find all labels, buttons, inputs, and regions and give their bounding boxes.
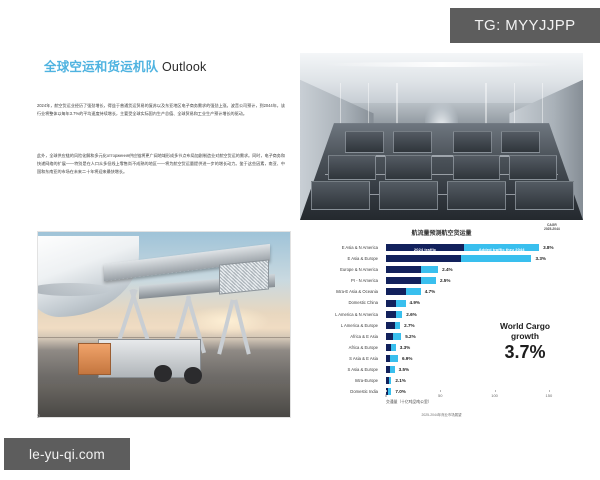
hold-cargo-crate [447, 181, 506, 210]
chart-cagr-value: 4.7% [425, 286, 435, 297]
chart-row-label: L America & N America [300, 309, 382, 320]
chart-row: E Asia & Europe3.3% [300, 253, 583, 264]
freighter-cargo-hold-photo [300, 53, 583, 220]
hold-cargo-crate [509, 155, 556, 180]
chart-row-label: Europe & N America [300, 264, 382, 275]
chart-row: Intra-E Asia & Oceania4.7% [300, 286, 583, 297]
chart-cagr-value: 7.0% [395, 386, 405, 397]
chart-cagr-value: 3.3% [535, 253, 545, 264]
chart-bar-segment-added [396, 300, 406, 307]
chart-bar-segment-2024 [386, 266, 421, 273]
chart-row-label: L America & Europe [300, 320, 382, 331]
chart-cagr-value: 4.9% [410, 297, 420, 308]
chart-row-label: Domestic China [300, 297, 382, 308]
chart-bar-segment-2024 [386, 322, 395, 329]
chart-row-label: S Asia & Europe [300, 364, 382, 375]
hold-cargo-crate [453, 155, 500, 180]
cargo-pallet [219, 259, 269, 294]
chart-row-label: E Asia & Europe [300, 253, 382, 264]
chart-row-label: E Asia & N America [300, 242, 382, 253]
chart-cagr-value: 2.5% [440, 275, 450, 286]
chart-x-tick-label: 50 [438, 393, 442, 398]
chart-x-tick [495, 390, 496, 392]
chart-x-tick-label: 150 [546, 393, 553, 398]
page-title-cn: 全球空运和货运机队 [44, 60, 158, 74]
chart-bar [386, 288, 421, 295]
chart-bar-segment-added [391, 344, 395, 351]
chart-row: Domestic China4.9% [300, 297, 583, 308]
chart-bar [386, 300, 406, 307]
chart-x-tick [440, 390, 441, 392]
chart-cagr-value: 2.6% [406, 309, 416, 320]
chart-cagr-value: 5.2% [405, 331, 415, 342]
horizon-line [38, 337, 290, 338]
chart-title: 航流量预测航空货运量 [300, 228, 583, 237]
chart-bar-segment-2024 [386, 277, 421, 284]
hold-cargo-crate [328, 155, 375, 180]
chart-bar-segment-added [393, 333, 402, 340]
chart-bar [386, 366, 395, 373]
chart-row: PI - N America2.5% [300, 275, 583, 286]
chart-row-label: Africa & Europe [300, 342, 382, 353]
chart-x-axis-title: 交通量（十亿吨品吨公里） [386, 400, 576, 405]
hold-cargo-crate [453, 131, 492, 153]
chart-bar-segment-2024 [386, 300, 396, 307]
chart-row-label: Intra-E Asia & Oceania [300, 286, 382, 297]
hold-cargo-crate [345, 131, 384, 153]
chart-bar [386, 255, 531, 262]
cargo-loader-photo [37, 231, 291, 418]
air-cargo-traffic-chart: 航流量预测航空货运量 CAGR 2025-2044 E Asia & N Ame… [300, 224, 583, 429]
chart-bar-segment-2024 [386, 311, 396, 318]
hold-ceiling [300, 53, 583, 103]
chart-cagr-value: 3.8% [543, 242, 553, 253]
hold-cargo-crate [501, 131, 540, 153]
hold-cargo-crate [379, 181, 438, 210]
chart-row-label: Intra-Europe [300, 375, 382, 386]
callout-line-2: growth [466, 332, 584, 342]
chart-cagr-value: 2.4% [442, 264, 452, 275]
chart-bar: 2024 trafficAdded traffic thru 2044 [386, 244, 539, 251]
chart-bar [386, 322, 400, 329]
chart-bar [386, 377, 391, 384]
chart-cagr-value: 2.7% [404, 320, 414, 331]
chart-bar [386, 355, 398, 362]
chart-bar-segment-2024 [386, 255, 461, 262]
chart-row: L America & N America2.6% [300, 309, 583, 320]
chart-bar [386, 277, 436, 284]
chart-bar-segment-added [396, 311, 403, 318]
page-number: 9 [37, 414, 40, 420]
chart-row-label: Africa & E Asia [300, 331, 382, 342]
chart-bar [386, 344, 396, 351]
chart-row: Europe & N America2.4% [300, 264, 583, 275]
chart-row: S Asia & Europe3.5% [300, 364, 583, 375]
paragraph-2: 此外，全球供应链的风险化解和多元化отторження供应链将更广阔地域形成多节… [37, 152, 285, 176]
chart-x-tick-label: 100 [491, 393, 498, 398]
chart-row-label: PI - N America [300, 275, 382, 286]
chart-row: Intra-Europe2.1% [300, 375, 583, 386]
chart-bar-segment-added [389, 377, 391, 384]
chart-bar-segment-added [461, 255, 532, 262]
chart-row-label: Domestic India [300, 386, 382, 397]
cagr-column-header: CAGR 2025-2044 [544, 223, 560, 231]
chart-bar [386, 266, 438, 273]
loader-vehicle-cab [78, 343, 110, 375]
world-cargo-growth-callout: World Cargo growth 3.7% [466, 322, 584, 362]
chart-row-label: S Asia & E Asia [300, 353, 382, 364]
watermark-badge: le-yu-qi.com [4, 438, 130, 470]
chart-cagr-value: 3.3% [400, 342, 410, 353]
chart-bar-segment-2024 [386, 288, 406, 295]
callout-value: 3.7% [466, 343, 584, 362]
chart-bar-segment-added [395, 322, 400, 329]
chart-x-tick-label: 0 [385, 393, 387, 398]
chart-cagr-value: 6.9% [402, 353, 412, 364]
apron-ground [38, 384, 290, 417]
tag-badge: TG: MYYJJPP [450, 8, 600, 43]
apron-illustration [38, 232, 290, 417]
chart-source-note: 2025-2044年商业市场展望 [300, 412, 583, 417]
chart-x-tick [549, 390, 550, 392]
chart-bar [386, 333, 401, 340]
chart-bar-segment-added [406, 288, 421, 295]
legend-label-added-traffic: Added traffic thru 2044 [479, 247, 525, 252]
hold-cargo-crate [515, 181, 574, 210]
chart-cagr-value: 2.1% [395, 375, 405, 386]
chart-x-tick [386, 390, 387, 392]
loader-wheel [154, 365, 172, 382]
chart-bar [386, 311, 402, 318]
loader-wheel [184, 367, 202, 384]
cagr-header-line-2: 2025-2044 [544, 227, 560, 231]
slide: 全球空运和货运机队 Outlook 2024年，航空货运业经历了强劲增长，得益于… [0, 0, 600, 480]
hold-cargo-crate [393, 131, 432, 153]
hold-cargo-crate [385, 155, 432, 180]
chart-x-axis: 050100150 [386, 390, 576, 391]
page-title-en: Outlook [162, 60, 206, 74]
legend-label-2024-traffic: 2024 traffic [414, 247, 436, 252]
page-title: 全球空运和货运机队 Outlook [44, 56, 206, 75]
hold-cargo-crate [311, 181, 370, 210]
chart-bar-segment-added [421, 277, 436, 284]
cargo-hold-illustration [300, 53, 583, 220]
chart-bar-segment-added [390, 366, 394, 373]
paragraph-1: 2024年，航空货运业经历了强劲增长，得益于普通货运贸易的复苏以及东亚地区电子商… [37, 102, 285, 118]
chart-bar-segment-added [421, 266, 438, 273]
chart-rows: E Asia & N America2024 trafficAdded traf… [300, 242, 583, 397]
chart-cagr-value: 3.5% [399, 364, 409, 375]
chart-bar-segment-added [390, 355, 398, 362]
chart-row: E Asia & N America2024 trafficAdded traf… [300, 242, 583, 253]
